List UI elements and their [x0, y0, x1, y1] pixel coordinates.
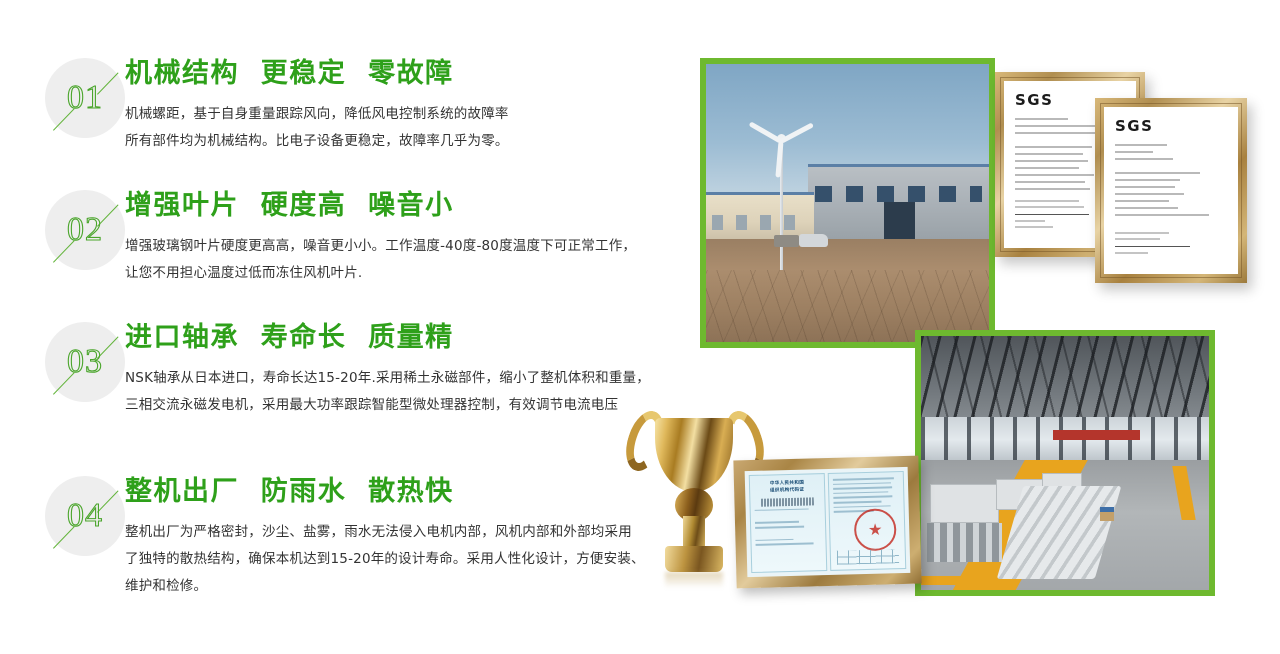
sgs-certificate-paper: SGS [1104, 107, 1238, 274]
feature-title: 增强叶片 硬度高 噪音小 [125, 190, 695, 222]
feature-description: 增强玻璃钢叶片硬度更高高，噪音更小小。工作温度-40度-80度温度下可正常工作，… [125, 233, 695, 287]
sgs-signature-block [1015, 200, 1089, 232]
factory-building [808, 164, 989, 239]
org-certificate-right-page [828, 471, 907, 571]
feature-description: 整机出厂为严格密封，沙尘、盐雾，雨水无法侵入电机内部，风机内部和外部均采用了独特… [125, 519, 695, 600]
workshop-floor [921, 460, 1209, 590]
feature-body: 进口轴承 寿命长 质量精 NSK轴承从日本进口，寿命长达15-20年.采用稀土永… [125, 322, 695, 419]
feature-list: 01 机械结构 更稳定 零故障 机械螺距，基于自身重量跟踪风向，降低风电控制系统… [0, 0, 700, 654]
sgs-text-lines [1115, 144, 1227, 216]
workshop-back-windows [921, 417, 1209, 463]
feature-title: 整机出厂 防雨水 散热快 [125, 476, 695, 508]
feature-body: 增强叶片 硬度高 噪音小 增强玻璃钢叶片硬度更高高，噪音更小小。工作温度-40度… [125, 190, 695, 287]
workshop-banner [1053, 430, 1139, 440]
trophy-stem [683, 516, 705, 550]
org-certificate-field-lines [755, 508, 822, 546]
org-certificate-title-line-2: 组织机构代码证 [754, 486, 820, 495]
image-gallery: SGS SGS [690, 0, 1280, 654]
trophy-reflection [665, 572, 723, 588]
ground-region [706, 239, 989, 342]
feature-title: 进口轴承 寿命长 质量精 [125, 322, 695, 354]
photo-org-certificate: 中华人民共和国 组织机构代码证 [733, 456, 921, 589]
org-certificate-terms-lines [833, 477, 900, 512]
feature-body: 机械结构 更稳定 零故障 机械螺距，基于自身重量跟踪风向，降低风电控制系统的故障… [125, 58, 695, 155]
product-pallet-stack [930, 484, 999, 523]
official-red-seal-icon [854, 508, 897, 551]
van-shape [799, 234, 827, 248]
photo-sgs-certificates: SGS SGS [995, 72, 1280, 302]
org-certificate-frame: 中华人民共和国 组织机构代码证 [733, 456, 921, 589]
trophy-base [665, 546, 723, 572]
sgs-logo: SGS [1115, 117, 1227, 135]
feature-number: 01 [45, 58, 125, 138]
feature-title: 机械结构 更稳定 零故障 [125, 58, 695, 90]
feature-description: NSK轴承从日本进口，寿命长达15-20年.采用稀土永磁部件，缩小了整机体积和重… [125, 365, 695, 419]
feature-badge-03: 03 [45, 322, 125, 402]
trophy-cup [655, 418, 733, 492]
feature-number: 03 [45, 322, 125, 402]
sgs-signature-block [1115, 232, 1190, 258]
feature-badge-02: 02 [45, 190, 125, 270]
feature-number: 02 [45, 190, 125, 270]
photo-factory-exterior [700, 58, 995, 348]
workshop-roof-trusses [921, 336, 1209, 422]
work-stool [1100, 507, 1114, 521]
feature-badge-04: 04 [45, 476, 125, 556]
org-certificate-inner: 中华人民共和国 组织机构代码证 [745, 467, 911, 577]
feature-description: 机械螺距，基于自身重量跟踪风向，降低风电控制系统的故障率所有部件均为机械结构。比… [125, 101, 695, 155]
org-certificate-table-grid [837, 549, 899, 565]
org-certificate-barcode [762, 497, 814, 506]
motor-housing-pallet [927, 523, 1002, 562]
sgs-certificate-frame-2: SGS [1095, 98, 1247, 283]
feature-number: 04 [45, 476, 125, 556]
floor-marking-stripe [1173, 466, 1197, 520]
product-advantages-page: 01 机械结构 更稳定 零故障 机械螺距，基于自身重量跟踪风向，降低风电控制系统… [0, 0, 1280, 654]
feature-body: 整机出厂 防雨水 散热快 整机出厂为严格密封，沙尘、盐雾，雨水无法侵入电机内部，… [125, 476, 695, 600]
feature-badge-01: 01 [45, 58, 125, 138]
office-building [706, 192, 814, 239]
truck-shape [774, 235, 799, 248]
org-certificate-left-page: 中华人民共和国 组织机构代码证 [749, 473, 828, 573]
photo-factory-interior [915, 330, 1215, 596]
